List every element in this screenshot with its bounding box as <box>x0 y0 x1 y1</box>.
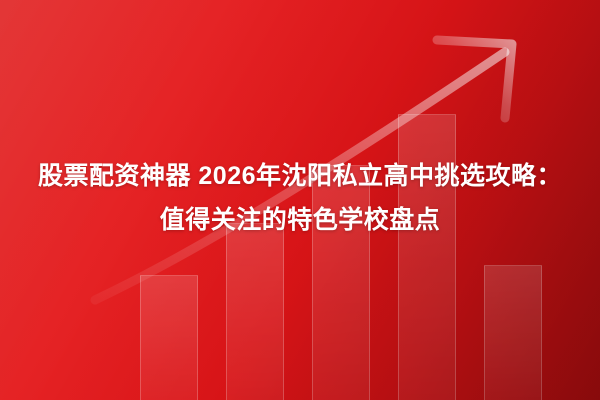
banner-title-line-1: 股票配资神器 2026年沈阳私立高中挑选攻略： <box>0 154 600 198</box>
promo-banner: 股票配资神器 2026年沈阳私立高中挑选攻略： 值得关注的特色学校盘点 <box>0 0 600 400</box>
banner-title-line-2: 值得关注的特色学校盘点 <box>0 198 600 242</box>
banner-title: 股票配资神器 2026年沈阳私立高中挑选攻略： 值得关注的特色学校盘点 <box>0 154 600 242</box>
